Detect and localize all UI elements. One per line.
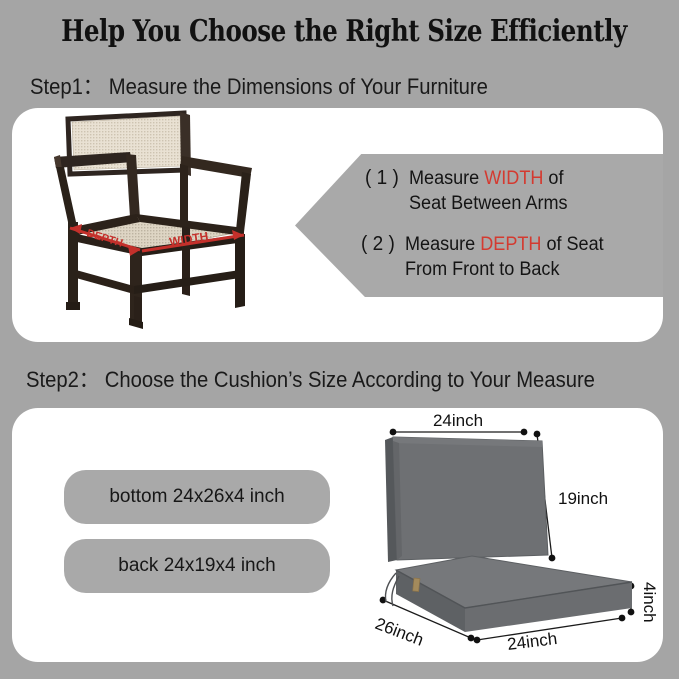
callout-item-2-number: ( 2 ) bbox=[361, 232, 395, 257]
dim-label-seat-width: 24inch bbox=[506, 629, 558, 654]
callout-item-2-line1-after: of Seat bbox=[541, 234, 603, 255]
dim-label-seat-depth: 26inch bbox=[373, 614, 427, 650]
cushion-diagram: 24inch 19inch 4inch 26inch 24inch bbox=[352, 410, 663, 662]
cushion-label-tab bbox=[413, 578, 420, 592]
callout-item-1-line1: Measure WIDTH of bbox=[409, 166, 568, 191]
step1-heading: Step1： Measure the Dimensions of Your Fu… bbox=[30, 69, 488, 101]
size-pill-bottom[interactable]: bottom 24x26x4 inch bbox=[64, 470, 330, 524]
step2-card: bottom 24x26x4 inch back 24x19x4 inch bbox=[12, 408, 663, 662]
size-pill-back[interactable]: back 24x19x4 inch bbox=[64, 539, 330, 593]
callout-item-1-line1-after: of bbox=[543, 168, 563, 189]
callout-item-1: ( 1 ) Measure WIDTH of Seat Between Arms bbox=[365, 166, 575, 216]
callout-item-2-line2: From Front to Back bbox=[405, 257, 604, 282]
callout-item-2-text: Measure DEPTH of Seat From Front to Back bbox=[405, 232, 604, 282]
chair-illustration: DEPTH WIDTH bbox=[30, 110, 320, 342]
dim-label-back-height: 19inch bbox=[558, 489, 608, 508]
callout-item-1-number: ( 1 ) bbox=[365, 166, 399, 191]
callout-item-2: ( 2 ) Measure DEPTH of Seat From Front t… bbox=[361, 232, 614, 282]
callout-item-1-line2: Seat Between Arms bbox=[409, 191, 568, 216]
callout-item-2-line1-before: Measure bbox=[405, 234, 480, 255]
callout-item-2-highlight: DEPTH bbox=[480, 234, 541, 255]
dim-label-top-width: 24inch bbox=[433, 411, 483, 430]
callout-item-2-line1: Measure DEPTH of Seat bbox=[405, 232, 604, 257]
callout-item-1-text: Measure WIDTH of Seat Between Arms bbox=[409, 166, 568, 216]
step2-heading: Step2： Choose the Cushion’s Size Accordi… bbox=[26, 362, 595, 394]
measure-instructions-callout: ( 1 ) Measure WIDTH of Seat Between Arms… bbox=[295, 154, 663, 297]
page-title: Help You Choose the Right Size Efficient… bbox=[61, 14, 618, 49]
callout-item-1-highlight: WIDTH bbox=[484, 168, 543, 189]
dim-label-seat-thickness: 4inch bbox=[640, 582, 659, 623]
callout-item-1-line1-before: Measure bbox=[409, 168, 484, 189]
step1-card: DEPTH WIDTH ( 1 ) Measure WIDTH of Seat … bbox=[12, 108, 663, 342]
